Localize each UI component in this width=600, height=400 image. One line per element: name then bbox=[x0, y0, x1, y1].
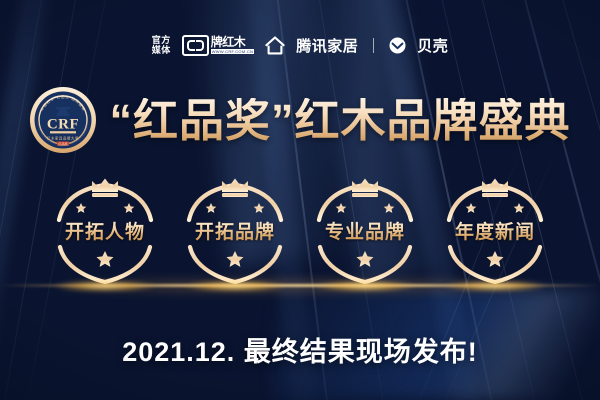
crf-brand-logo[interactable]: 牌红木 WWW.CRF.COM.CN bbox=[182, 35, 255, 56]
official-media-line1: 官方 bbox=[152, 35, 171, 45]
title-row: 中国红木·红品奖·品牌盛典 CHINA REDWOOD FURNITURE BR… bbox=[0, 84, 600, 156]
beike-shell-icon bbox=[389, 37, 406, 54]
award-badge[interactable]: 开拓品牌 bbox=[177, 176, 293, 288]
official-media-line2: 媒体 bbox=[152, 45, 171, 55]
award-badge[interactable]: 开拓人物 bbox=[47, 176, 163, 288]
badge-tip-glow bbox=[313, 280, 417, 292]
award-badge-label: 开拓人物 bbox=[47, 217, 163, 244]
badge-tip-glow bbox=[53, 280, 157, 292]
award-badge[interactable]: 年度新闻 bbox=[437, 176, 553, 288]
crf-seal-badge: 中国红木·红品奖·品牌盛典 CHINA REDWOOD FURNITURE BR… bbox=[29, 86, 97, 154]
award-badge[interactable]: 专业品牌 bbox=[307, 176, 423, 288]
badge-tip-glow bbox=[183, 280, 287, 292]
tencent-home-label[interactable]: 腾讯家居 bbox=[296, 35, 358, 56]
award-badge-label: 年度新闻 bbox=[437, 217, 553, 244]
announcement-text: 2021.12. 最终结果现场发布! bbox=[0, 330, 600, 369]
beike-label[interactable]: 贝壳 bbox=[417, 35, 448, 56]
award-badge-label: 专业品牌 bbox=[307, 217, 423, 244]
award-category-badges: 开拓人物 开拓品牌 bbox=[0, 176, 600, 288]
logo-divider bbox=[373, 38, 374, 53]
partner-logo-bar: 官方 媒体 牌红木 WWW.CRF.COM.CN 腾讯家居 贝壳 bbox=[0, 30, 600, 60]
crf-brand-cn: 牌红木 bbox=[211, 36, 255, 49]
svg-text:红木家具品牌大奖: 红木家具品牌大奖 bbox=[48, 136, 80, 141]
svg-text:CRF: CRF bbox=[47, 117, 79, 133]
award-badge-label: 开拓品牌 bbox=[177, 217, 293, 244]
poster-canvas: 官方 媒体 牌红木 WWW.CRF.COM.CN 腾讯家居 贝壳 bbox=[0, 0, 600, 400]
svg-text:红品奖: 红品奖 bbox=[59, 141, 68, 146]
house-icon bbox=[265, 36, 285, 55]
crf-gg-logo-icon bbox=[182, 35, 209, 56]
page-title: “红品奖”红木品牌盛典 bbox=[109, 98, 570, 143]
crf-brand-en: WWW.CRF.COM.CN bbox=[211, 49, 255, 54]
badge-tip-glow bbox=[443, 280, 547, 292]
official-media-label: 官方 媒体 bbox=[152, 35, 171, 55]
